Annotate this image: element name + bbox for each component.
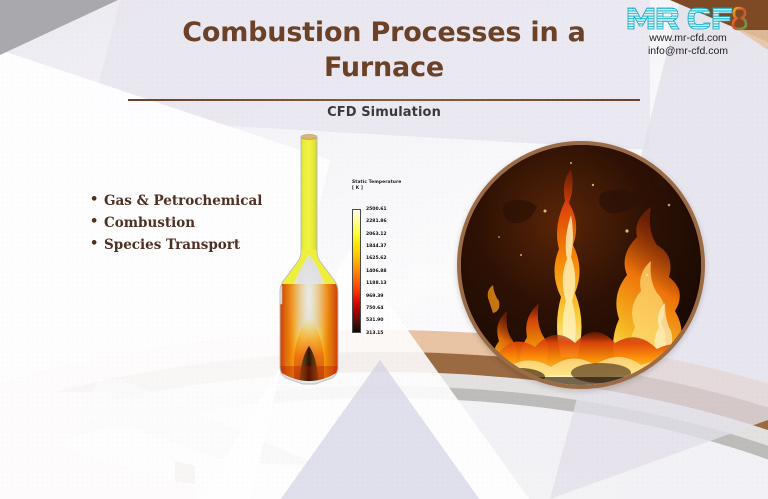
temperature-colorbar: Static Temperature [ K ] 2500.61 2281.86…	[352, 180, 412, 333]
fire-photo-svg	[461, 145, 701, 385]
logo-website[interactable]: www.mr-cfd.com	[618, 32, 758, 45]
colorbar-tick: 2063.12	[366, 233, 387, 238]
slide-canvas: Combustion Processes in a Furnace CFD Si…	[0, 0, 768, 499]
colorbar-title: Static Temperature [ K ]	[352, 180, 412, 192]
decor-corner-grey-top-left	[0, 0, 120, 70]
brand-logo[interactable]: www.mr-cfd.com info@mr-cfd.com	[618, 5, 758, 58]
colorbar-tick: 313.15	[366, 332, 383, 337]
colorbar-gradient	[352, 209, 361, 333]
colorbar-tick: 1625.62	[366, 257, 387, 262]
colorbar-tick: 2281.86	[366, 220, 387, 225]
colorbar-title-line2: [ K ]	[352, 186, 412, 192]
mr-cfd-logo-icon	[626, 5, 750, 31]
colorbar-tick: 1188.13	[366, 282, 387, 287]
furnace-temperature-contour	[272, 134, 350, 386]
colorbar-tick: 531.90	[366, 319, 383, 324]
page-title: Combustion Processes in a Furnace	[128, 16, 640, 85]
colorbar-tick: 750.64	[366, 307, 383, 312]
fire-flames-photo	[457, 141, 705, 389]
title-divider	[128, 99, 640, 101]
logo-email[interactable]: info@mr-cfd.com	[618, 45, 758, 58]
colorbar-tick: 2500.61	[366, 208, 387, 213]
colorbar-tick: 1844.37	[366, 245, 387, 250]
colorbar-tick: 1406.88	[366, 270, 387, 275]
contour-svg	[272, 134, 350, 386]
colorbar-tick: 969.39	[366, 295, 383, 300]
page-subtitle: CFD Simulation	[128, 105, 640, 120]
